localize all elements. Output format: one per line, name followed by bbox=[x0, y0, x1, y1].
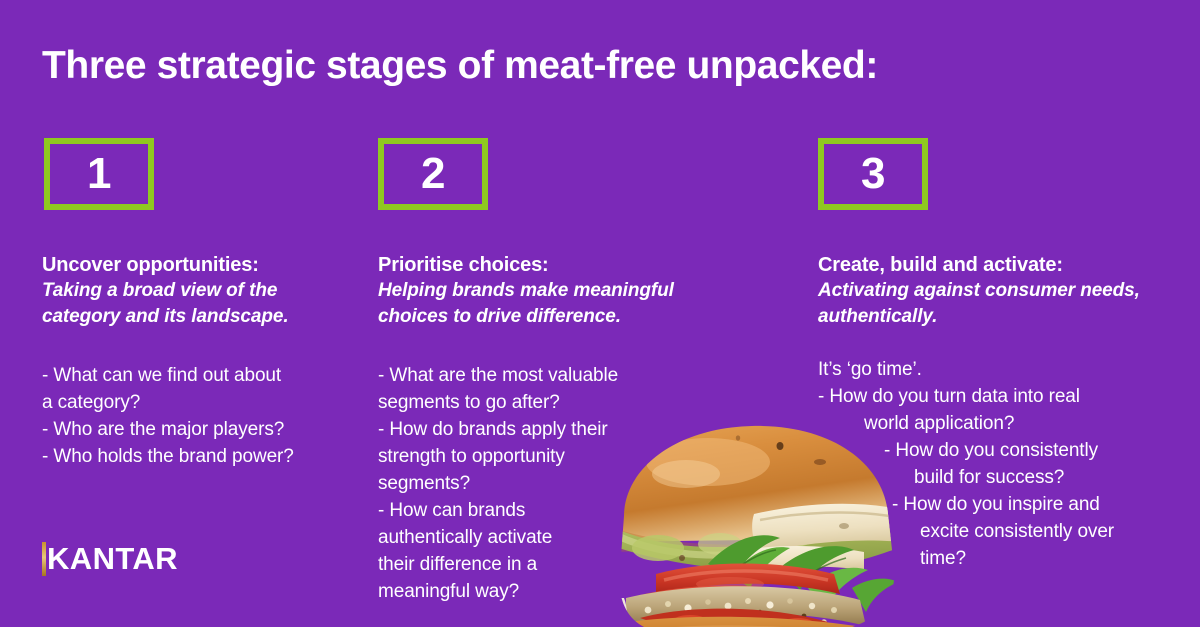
subheading-line: choices to drive difference. bbox=[378, 304, 708, 329]
subheading-line: Activating against consumer needs, bbox=[818, 278, 1170, 303]
kantar-logo: KANTAR bbox=[42, 542, 178, 576]
body-line: - Who holds the brand power? bbox=[42, 444, 342, 471]
infographic-canvas: Three strategic stages of meat-free unpa… bbox=[0, 0, 1200, 627]
body-line: strength to opportunity bbox=[378, 444, 708, 471]
body-line: - How do brands apply their bbox=[378, 417, 708, 444]
body-line: time? bbox=[920, 546, 1170, 573]
stage-number-1: 1 bbox=[87, 152, 111, 196]
body-line: build for success? bbox=[914, 465, 1170, 492]
body-line: - What are the most valuable bbox=[378, 363, 708, 390]
stage-heading-3: Create, build and activate: bbox=[818, 252, 1170, 278]
subheading-line: category and its landscape. bbox=[42, 304, 342, 329]
stage-number-box-1: 1 bbox=[44, 138, 154, 210]
stage-subheading-2: Helping brands make meaningful choices t… bbox=[378, 278, 708, 329]
logo-accent-bar bbox=[42, 542, 46, 576]
stage-body-2: - What are the most valuable segments to… bbox=[378, 363, 708, 606]
subheading-line: Taking a broad view of the bbox=[42, 278, 342, 303]
body-line: - How can brands bbox=[378, 498, 708, 525]
subheading-line: authentically. bbox=[818, 304, 1170, 329]
stage-subheading-3: Activating against consumer needs, authe… bbox=[818, 278, 1170, 329]
stage-subheading-1: Taking a broad view of the category and … bbox=[42, 278, 342, 329]
body-line: authentically activate bbox=[378, 525, 708, 552]
body-line: segments to go after? bbox=[378, 390, 708, 417]
body-line: a category? bbox=[42, 390, 342, 417]
body-line: world application? bbox=[864, 411, 1170, 438]
logo-wordmark: KANTAR bbox=[47, 542, 178, 576]
body-line: - How do you consistently bbox=[884, 438, 1170, 465]
body-line: their difference in a bbox=[378, 552, 708, 579]
stage-number-box-3: 3 bbox=[818, 138, 928, 210]
body-line: excite consistently over bbox=[920, 519, 1170, 546]
body-line: - What can we find out about bbox=[42, 363, 342, 390]
body-line: - How do you turn data into real bbox=[818, 384, 1170, 411]
stage-body-3: It’s ‘go time’. - How do you turn data i… bbox=[818, 357, 1170, 573]
body-line: segments? bbox=[378, 471, 708, 498]
stage-column-2: Prioritise choices: Helping brands make … bbox=[378, 252, 708, 606]
page-title: Three strategic stages of meat-free unpa… bbox=[42, 44, 1162, 89]
stage-number-3: 3 bbox=[861, 152, 885, 196]
stage-heading-1: Uncover opportunities: bbox=[42, 252, 342, 278]
stage-heading-2: Prioritise choices: bbox=[378, 252, 708, 278]
body-line: It’s ‘go time’. bbox=[818, 357, 1170, 384]
stage-column-1: Uncover opportunities: Taking a broad vi… bbox=[42, 252, 342, 471]
body-line: - Who are the major players? bbox=[42, 417, 342, 444]
subheading-line: Helping brands make meaningful bbox=[378, 278, 708, 303]
stage-column-3: Create, build and activate: Activating a… bbox=[818, 252, 1170, 573]
stage-number-2: 2 bbox=[421, 152, 445, 196]
stage-body-1: - What can we find out about a category?… bbox=[42, 363, 342, 471]
body-line: meaningful way? bbox=[378, 579, 708, 606]
stage-number-box-2: 2 bbox=[378, 138, 488, 210]
body-line: - How do you inspire and bbox=[892, 492, 1170, 519]
